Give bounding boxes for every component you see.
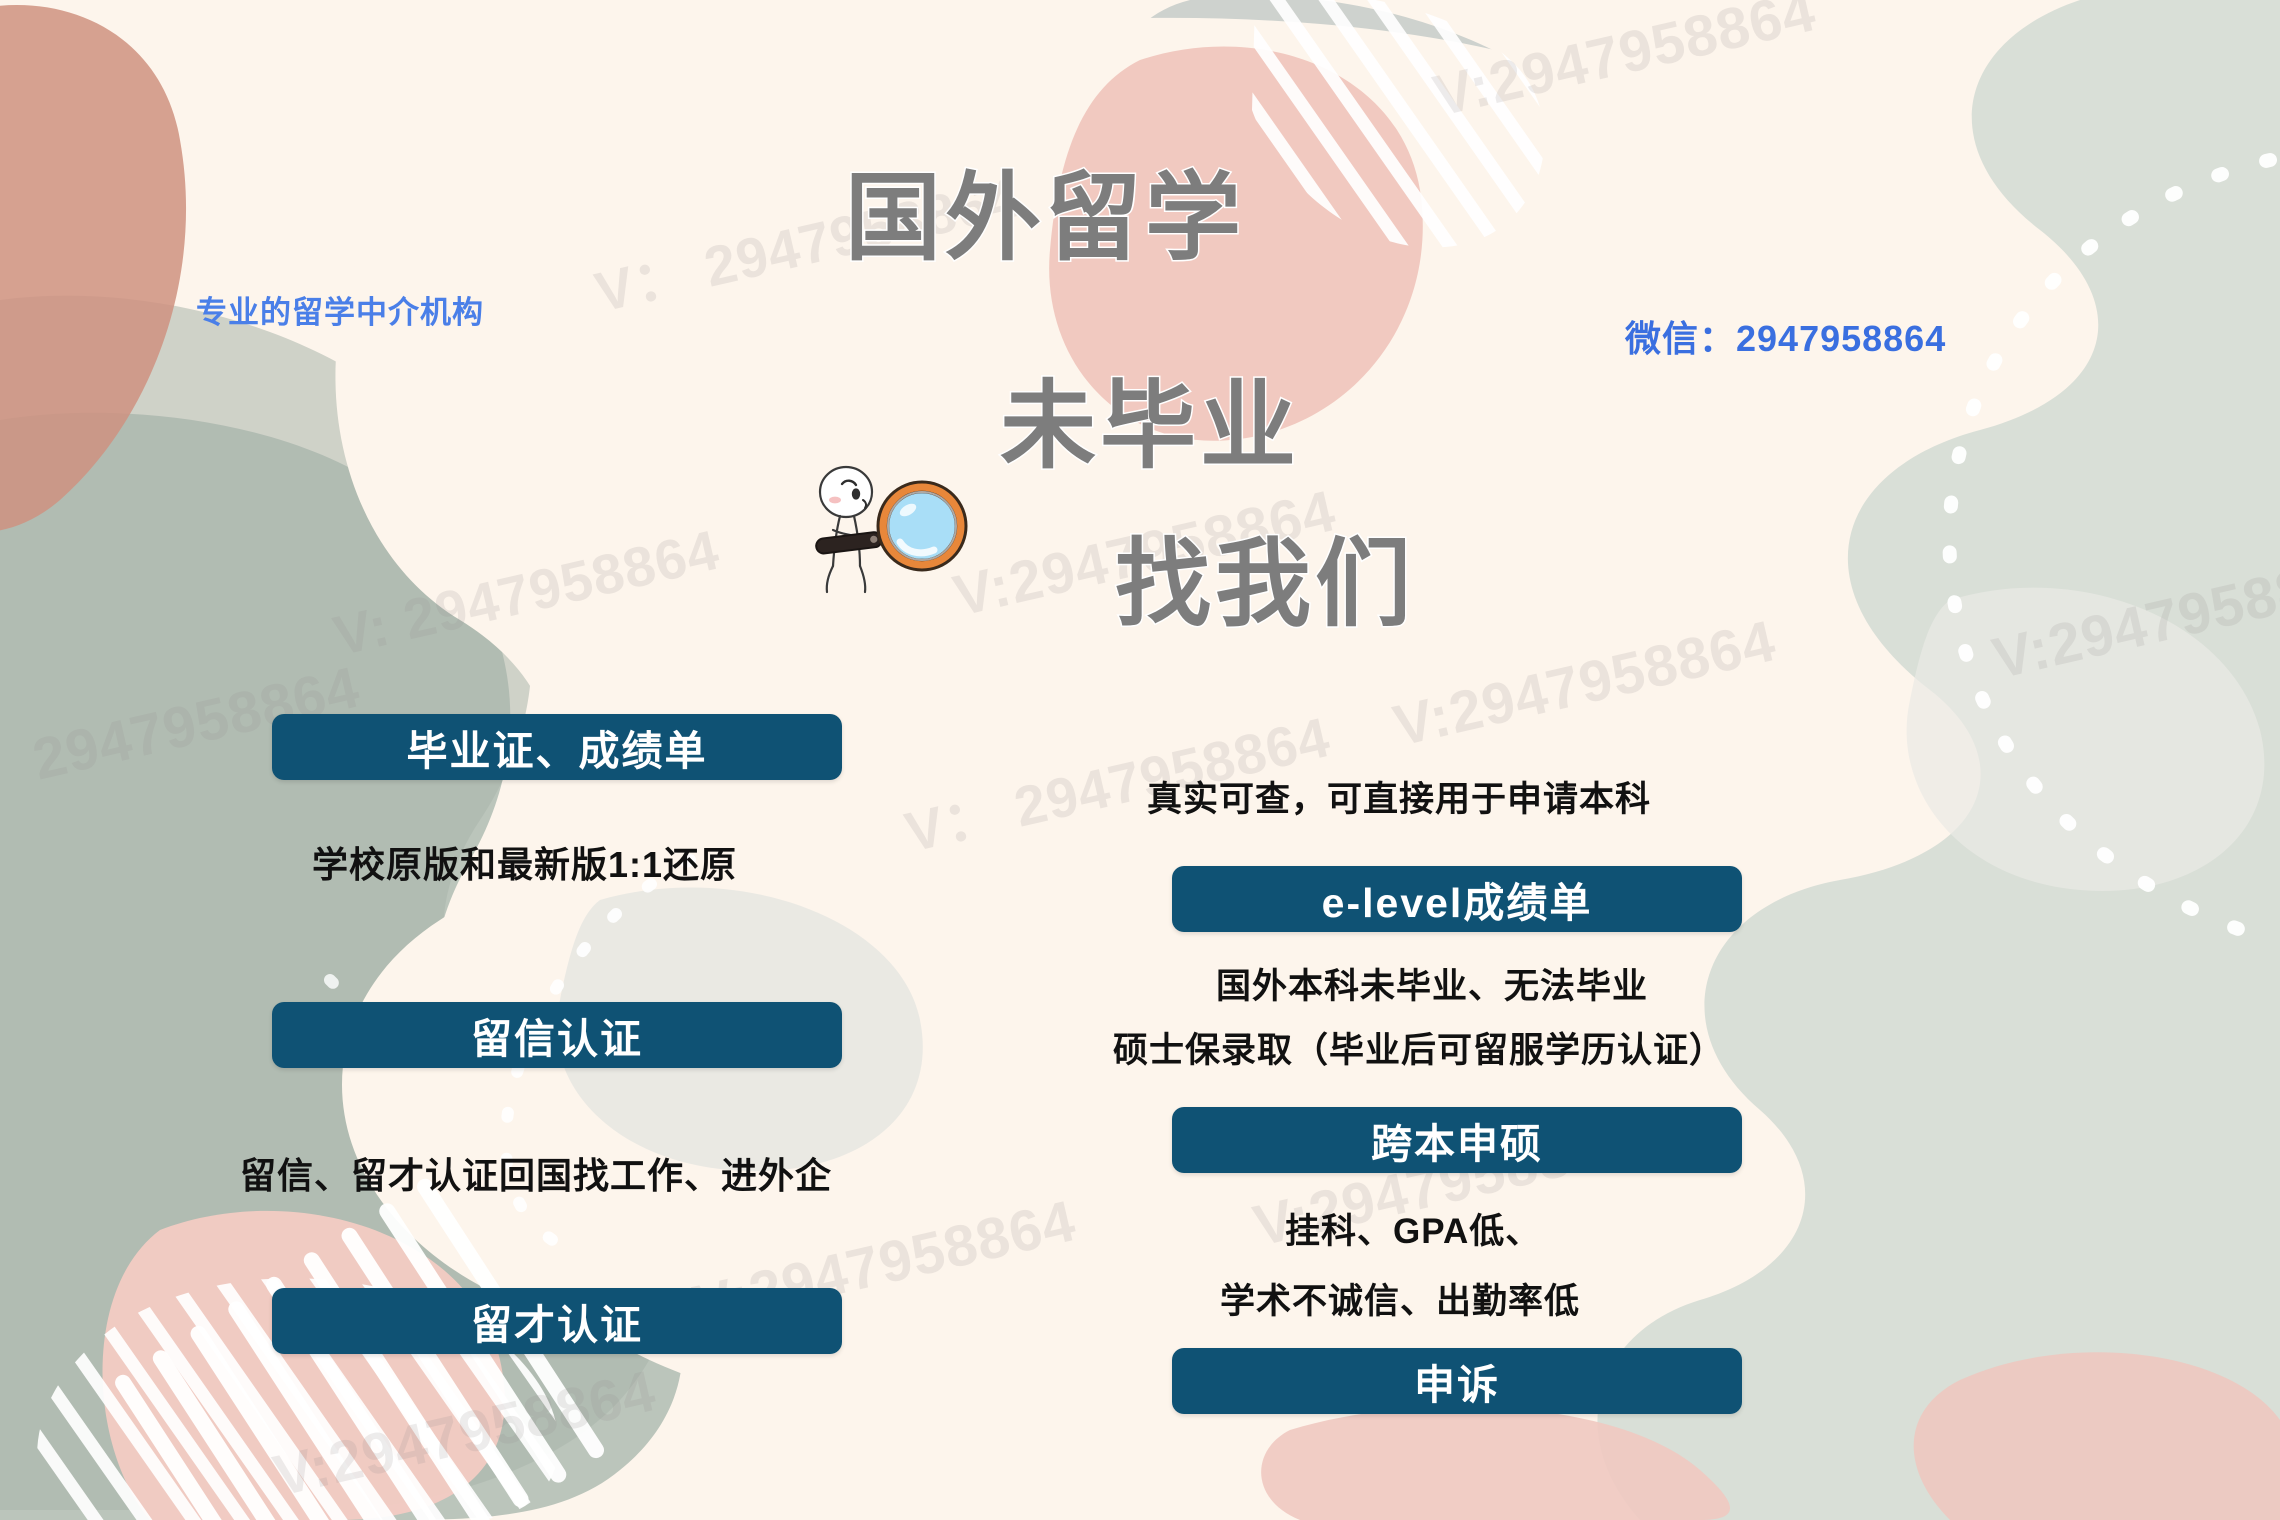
- poster-canvas: V:2947958864V： 2947958864V:2947958864V:2…: [0, 0, 2280, 1520]
- badge-e-level-transcript[interactable]: e-level成绩单: [1172, 866, 1742, 932]
- note-bachelor-to-master-line-2: 学术不诚信、出勤率低: [1220, 1273, 1580, 1324]
- badge-appeal[interactable]: 申诉: [1172, 1348, 1742, 1414]
- headline-line-3: 找我们: [1115, 506, 1415, 645]
- right-column-intro: 真实可查，可直接用于申请本科: [1147, 771, 1651, 822]
- headline-line-2: 未毕业: [1000, 348, 1300, 487]
- badge-liucai-certification[interactable]: 留才认证: [272, 1288, 842, 1354]
- person-with-magnifier-icon: [800, 450, 970, 600]
- badge-diploma-transcript[interactable]: 毕业证、成绩单: [272, 714, 842, 780]
- note-e-level-line-1: 国外本科未毕业、无法毕业: [1216, 958, 1648, 1009]
- note-e-level-line-2: 硕士保录取（毕业后可留服学历认证）: [1113, 1022, 1725, 1073]
- badge-bachelor-to-master[interactable]: 跨本申硕: [1172, 1107, 1742, 1173]
- note-liuxin-certification: 留信、留才认证回国找工作、进外企: [240, 1147, 832, 1199]
- note-diploma-transcript: 学校原版和最新版1:1还原: [312, 836, 737, 888]
- tagline: 专业的留学中介机构: [196, 287, 484, 332]
- badge-liuxin-certification[interactable]: 留信认证: [272, 1002, 842, 1068]
- note-bachelor-to-master-line-1: 挂科、GPA低、: [1285, 1203, 1541, 1254]
- headline-line-1: 国外留学: [845, 140, 1245, 279]
- wechat-contact: 微信：2947958864: [1625, 310, 1946, 362]
